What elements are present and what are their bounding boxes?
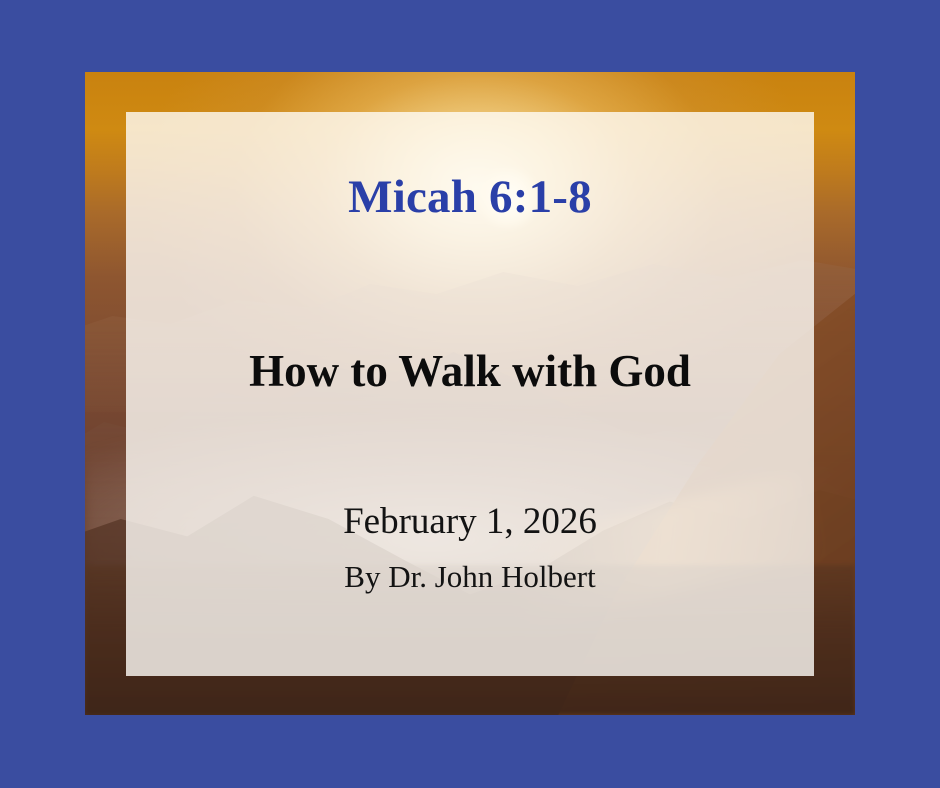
- content-panel: Micah 6:1-8 How to Walk with God Februar…: [126, 112, 814, 676]
- background-photo: Micah 6:1-8 How to Walk with God Februar…: [85, 72, 855, 715]
- sermon-byline: By Dr. John Holbert: [126, 560, 814, 594]
- slide-root: Micah 6:1-8 How to Walk with God Februar…: [0, 0, 940, 788]
- sermon-title: How to Walk with God: [126, 347, 814, 396]
- scripture-reference: Micah 6:1-8: [126, 173, 814, 222]
- sermon-date: February 1, 2026: [126, 502, 814, 543]
- text-layer: Micah 6:1-8 How to Walk with God Februar…: [126, 112, 814, 676]
